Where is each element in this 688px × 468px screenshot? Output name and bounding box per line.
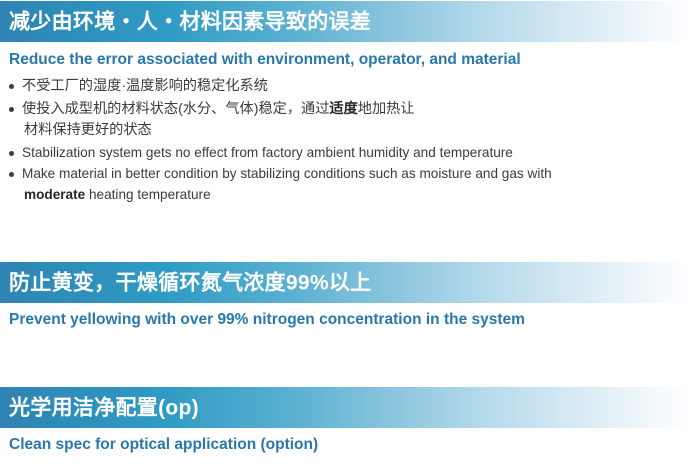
list-item-text: Stabilization system gets no effect from…: [22, 145, 513, 160]
bullet-dot-icon: [9, 107, 14, 112]
bullet-dot-icon: [9, 84, 14, 89]
section-subheading-reduce-error: Reduce the error associated with environ…: [9, 51, 521, 68]
list-item-emphasis: 适度: [329, 101, 357, 117]
slide-page: 减少由环境・人・材料因素导致的误差 Reduce the error assoc…: [0, 0, 688, 468]
section-header-bar-clean-spec: 光学用洁净配置(op): [0, 387, 688, 428]
list-item-text: 使投入成型机的材料状态(水分、气体)稳定，通过: [22, 101, 329, 117]
bullet-dot-icon: [9, 172, 14, 177]
list-item: Stabilization system gets no effect from…: [7, 143, 679, 164]
list-item-text-line2: moderate heating temperature: [22, 185, 679, 206]
bullet-list-reduce-error: 不受工厂的湿度·温度影响的稳定化系统 使投入成型机的材料状态(水分、气体)稳定，…: [7, 76, 679, 207]
list-item-text: 不受工厂的湿度·温度影响的稳定化系统: [22, 78, 268, 94]
bullet-dot-icon: [9, 151, 14, 156]
list-item-text-cont: 地加热让: [358, 101, 415, 117]
section-subheading-clean-spec: Clean spec for optical application (opti…: [9, 436, 318, 453]
section-header-bar-reduce-error: 减少由环境・人・材料因素导致的误差: [0, 1, 688, 42]
section-subheading-prevent-yellowing: Prevent yellowing with over 99% nitrogen…: [9, 311, 525, 328]
list-item: 使投入成型机的材料状态(水分、气体)稳定，通过适度地加热让 材料保持更好的状态: [7, 99, 679, 142]
list-item-text: Make material in better condition by sta…: [22, 166, 552, 181]
list-item-emphasis: moderate: [24, 187, 85, 202]
section-header-bar-prevent-yellowing: 防止黄变，干燥循环氮气浓度99%以上: [0, 262, 688, 303]
section-title-clean-spec: 光学用洁净配置(op): [9, 397, 199, 418]
list-item-text-cont: heating temperature: [85, 187, 210, 202]
list-item-text-line2: 材料保持更好的状态: [22, 120, 679, 142]
section-title-reduce-error: 减少由环境・人・材料因素导致的误差: [9, 11, 371, 32]
section-title-prevent-yellowing: 防止黄变，干燥循环氮气浓度99%以上: [9, 272, 371, 293]
list-item: 不受工厂的湿度·温度影响的稳定化系统: [7, 76, 679, 98]
list-item: Make material in better condition by sta…: [7, 164, 679, 205]
